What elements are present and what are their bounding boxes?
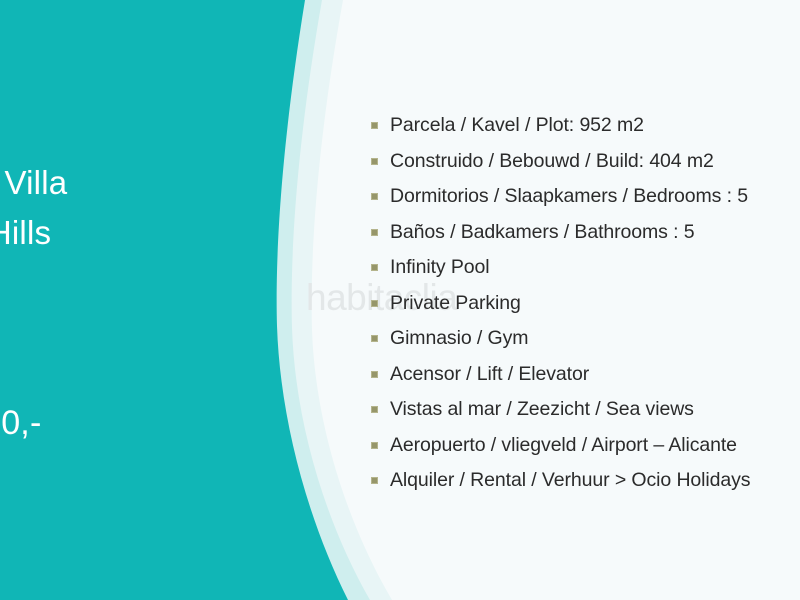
list-item: Acensor / Lift / Elevator — [366, 357, 800, 393]
headline-line-1: xury Villa — [0, 158, 67, 208]
list-item-label: Parcela / Kavel / Plot: 952 m2 — [390, 108, 644, 144]
list-item-label: Construido / Bebouwd / Build: 404 m2 — [390, 144, 714, 180]
list-item: Alquiler / Rental / Verhuur > Ocio Holid… — [366, 463, 800, 499]
slide-canvas: xury Villa tea Hills 495.000,- habitacli… — [0, 0, 800, 600]
list-item: Infinity Pool — [366, 250, 800, 286]
square-bullet-icon — [371, 477, 378, 484]
headline-line-2: tea Hills — [0, 208, 67, 258]
list-item: Baños / Badkamers / Bathrooms : 5 — [366, 215, 800, 251]
list-item-label: Private Parking — [390, 286, 521, 322]
square-bullet-icon — [371, 122, 378, 129]
headline: xury Villa tea Hills — [0, 158, 67, 258]
list-item-label: Alquiler / Rental / Verhuur > Ocio Holid… — [390, 463, 750, 499]
square-bullet-icon — [371, 335, 378, 342]
list-item: Aeropuerto / vliegveld / Airport – Alica… — [366, 428, 800, 464]
square-bullet-icon — [371, 442, 378, 449]
square-bullet-icon — [371, 193, 378, 200]
feature-list: Parcela / Kavel / Plot: 952 m2 Construid… — [366, 108, 800, 499]
square-bullet-icon — [371, 158, 378, 165]
price-label: 495.000,- — [0, 400, 41, 446]
square-bullet-icon — [371, 229, 378, 236]
list-item-label: Baños / Badkamers / Bathrooms : 5 — [390, 215, 695, 251]
list-item-label: Dormitorios / Slaapkamers / Bedrooms : 5 — [390, 179, 748, 215]
square-bullet-icon — [371, 300, 378, 307]
list-item: Parcela / Kavel / Plot: 952 m2 — [366, 108, 800, 144]
list-item-label: Gimnasio / Gym — [390, 321, 528, 357]
list-item: Construido / Bebouwd / Build: 404 m2 — [366, 144, 800, 180]
square-bullet-icon — [371, 406, 378, 413]
list-item: Dormitorios / Slaapkamers / Bedrooms : 5 — [366, 179, 800, 215]
square-bullet-icon — [371, 371, 378, 378]
list-item-label: Aeropuerto / vliegveld / Airport – Alica… — [390, 428, 737, 464]
square-bullet-icon — [371, 264, 378, 271]
list-item: Gimnasio / Gym — [366, 321, 800, 357]
list-item-label: Infinity Pool — [390, 250, 490, 286]
list-item: Private Parking — [366, 286, 800, 322]
list-item-label: Vistas al mar / Zeezicht / Sea views — [390, 392, 694, 428]
list-item-label: Acensor / Lift / Elevator — [390, 357, 589, 393]
list-item: Vistas al mar / Zeezicht / Sea views — [366, 392, 800, 428]
